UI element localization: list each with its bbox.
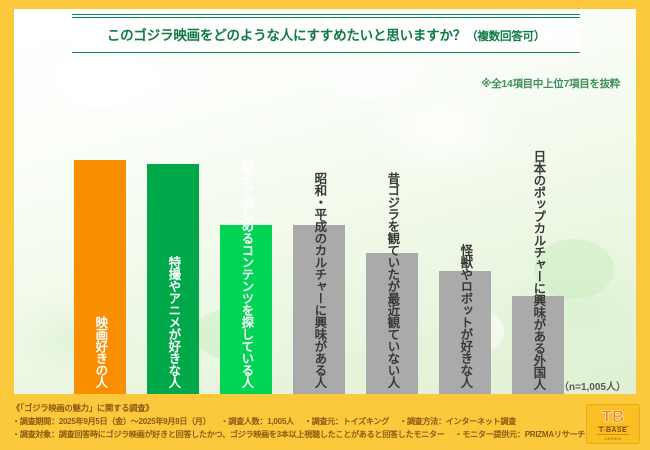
bar-column: 日本のポップカルチャーに興味がある外国人 14.6%: [501, 53, 575, 394]
bar: 特撮やアニメが好きな人: [147, 164, 199, 394]
bar: 映画好きの人: [74, 160, 126, 394]
sample-size-label: （n=1,005人）: [559, 378, 626, 393]
survey-method: ・調査方法：インターネット調査: [399, 417, 516, 426]
bar: 昔ゴジラを観ていたが最近観ていない人: [366, 253, 418, 394]
bar-chart: 映画好きの人 34.8% 特撮やアニメが好きな人 34.2% 親子で楽しめるコン…: [14, 9, 636, 394]
survey-sample: ・調査人数：1,005人: [221, 417, 294, 426]
survey-target: ・調査対象：調査回答時にゴジラ映画が好きと回答したかつ、ゴジラ映画を3本以上視聴…: [12, 430, 445, 439]
bar-label: 昭和・平成のカルチャーに興味がある人: [313, 172, 326, 388]
bar-label: 昔ゴジラを観ていたが最近観ていない人: [386, 172, 399, 388]
survey-line-1: ・調査期間：2025年9月5日（金）〜2025年9月8日（月）・調査人数：1,0…: [12, 416, 582, 429]
bar-label: 怪獣やロボットが好きな人: [459, 244, 472, 388]
bar-label: 映画好きの人: [94, 316, 107, 388]
bar-column: 特撮やアニメが好きな人 34.2%: [136, 53, 210, 394]
infographic-root: このゴジラ映画をどのような人にすすめたいと思いますか？（複数回答可） ※全14項…: [0, 0, 650, 450]
bar: 怪獣やロボットが好きな人: [439, 271, 491, 394]
bar-column: 映画好きの人 34.8%: [63, 53, 137, 394]
bar-label: 日本のポップカルチャーに興味がある外国人: [532, 150, 545, 390]
survey-period: ・調査期間：2025年9月5日（金）〜2025年9月8日（月）: [12, 417, 211, 426]
survey-heading: 《「ゴジラ映画の魅力」に関する調査》: [12, 402, 582, 414]
bar-column: 怪獣やロボットが好きな人 18.3%: [428, 53, 502, 394]
bar-label: 特撮やアニメが好きな人: [167, 256, 180, 388]
survey-source: ・調査元：トイズキング: [304, 417, 389, 426]
logo-sub: JAPAN: [604, 436, 622, 441]
bar-column: 昭和・平成のカルチャーに興味がある人 25.1%: [282, 53, 356, 394]
survey-line-2: ・調査対象：調査回答時にゴジラ映画が好きと回答したかつ、ゴジラ映画を3本以上視聴…: [12, 429, 582, 442]
bar: 日本のポップカルチャーに興味がある外国人: [512, 296, 564, 394]
bar-column: 親子で楽しめるコンテンツを探している人 25.1%: [209, 53, 283, 394]
footer-text-block: 《「ゴジラ映画の魅力」に関する調査》 ・調査期間：2025年9月5日（金）〜20…: [12, 402, 582, 441]
t-base-logo: TB T-BASE JAPAN: [586, 404, 640, 444]
bar: 昭和・平成のカルチャーに興味がある人: [293, 225, 345, 394]
logo-name: T-BASE: [597, 426, 629, 435]
bar-label: 親子で楽しめるコンテンツを探している人: [240, 160, 253, 388]
bar-column: 昔ゴジラを観ていたが最近観ていない人 20.9%: [355, 53, 429, 394]
bar: 親子で楽しめるコンテンツを探している人: [220, 225, 272, 394]
logo-mark: TB: [602, 408, 625, 425]
monitor-provider: ・モニター提供元：PRIZMAリサーチ: [455, 430, 586, 439]
footer: 《「ゴジラ映画の魅力」に関する調査》 ・調査期間：2025年9月5日（金）〜20…: [0, 398, 650, 450]
